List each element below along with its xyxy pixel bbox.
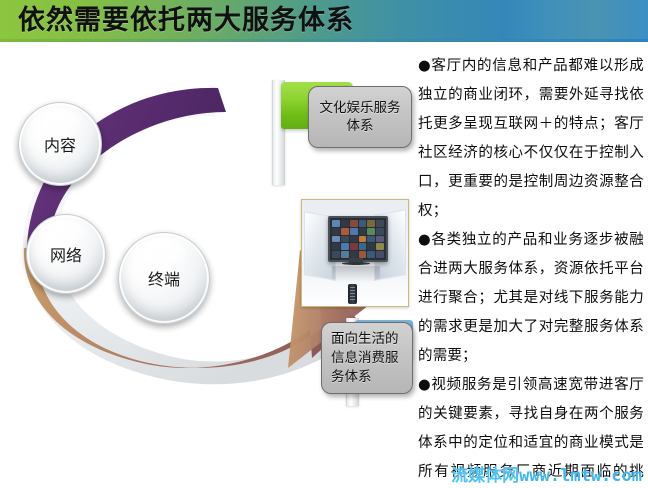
photo-remote-control [348,284,357,304]
body-text-panel: ●客厅内的信息和产品都难以形成独立的商业闭环，需要外延寻找依托更多呈现互联网＋的… [412,52,648,472]
site-watermark: 流媒体网www.lmtw.com [451,461,642,486]
callout-life-info-consumption-text: 面向生活的信息消费服务体系 [331,330,403,387]
bubble-content[interactable]: 内容 [18,102,102,186]
bubble-terminal[interactable]: 终端 [118,232,210,324]
bubble-content-label: 内容 [44,132,76,156]
slide-canvas: 依然需要依托两大服务体系 [0,0,648,488]
bubble-network[interactable]: 网络 [26,214,106,294]
callout-culture-entertainment-text: 文化娱乐服务体系 [318,99,402,135]
photo-tv-ui-grid [332,220,384,258]
bubble-network-label: 网络 [50,242,82,266]
watermark-site-name: 流媒体网 [451,466,519,486]
watermark-url: www.lmtw.com [519,466,642,486]
callout-culture-entertainment[interactable]: 文化娱乐服务体系 [308,86,412,148]
page-title: 依然需要依托两大服务体系 [18,3,354,39]
photo-tv-reflection [332,266,380,282]
slide-title-bar: 依然需要依托两大服务体系 [0,0,648,42]
callout-life-info-consumption[interactable]: 面向生活的信息消费服务体系 [321,322,413,394]
photo-tv-base [342,262,370,265]
body-paragraph-2: ●各类独立的产品和业务逐步被融合进两大服务体系，资源依托平台进行聚合；尤其是对线… [412,226,648,371]
smart-tv-showroom-photo [301,199,409,307]
bubble-terminal-label: 终端 [148,266,180,290]
photo-television [328,216,388,262]
body-paragraph-1: ●客厅内的信息和产品都难以形成独立的商业闭环，需要外延寻找依托更多呈现互联网＋的… [412,52,648,226]
